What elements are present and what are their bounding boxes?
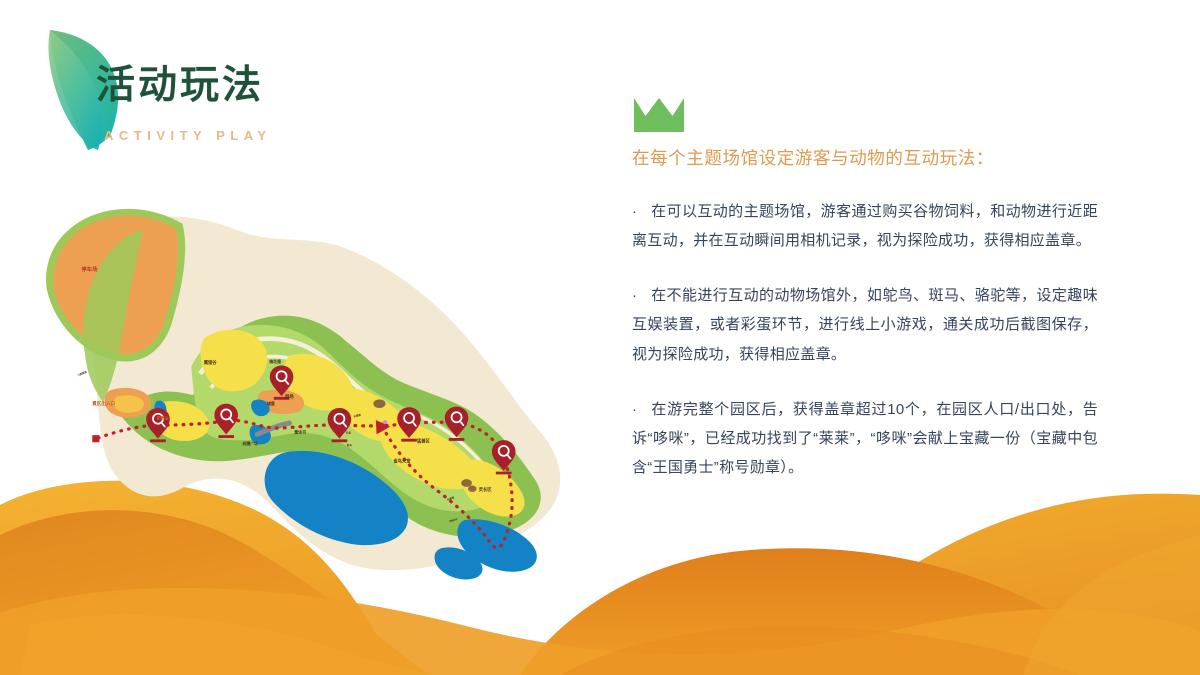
map-label-4: 鹰猎谷	[204, 359, 218, 366]
route-start-marker	[92, 435, 99, 442]
title-block: 活动玩法 ACTIVITY PLAY	[36, 18, 366, 148]
map-label-14: 灵长区	[479, 486, 493, 493]
park-map[interactable]: 停车场入园通道景区出入口彩鹦谷鹰猎谷梅花鹿剧场城堡尚膳广场童话书斑马长颈鹿猛兽区…	[38, 188, 598, 588]
bullet-marker-2: ·	[632, 287, 651, 304]
map-label-9: 童话书	[294, 429, 306, 434]
park-map-svg: 停车场入园通道景区出入口彩鹦谷鹰猎谷梅花鹿剧场城堡尚膳广场童话书斑马长颈鹿猛兽区…	[38, 188, 598, 588]
bullet-text-2: 在不能进行互动的动物场馆外，如鸵鸟、斑马、骆驼等，设定趣味互娱装置，或者彩蛋环节…	[632, 287, 1098, 363]
bullet-text-3: 在游完整个园区后，获得盖章超过10个，在园区人口/出口处，告诉“哆咪”，已经成功…	[632, 401, 1098, 477]
bullet-paragraph-2: ·在不能进行互动的动物场馆外，如鸵鸟、斑马、骆驼等，设定趣味互娱装置，或者彩蛋环…	[632, 281, 1098, 369]
crown-icon	[632, 96, 686, 134]
bullet-marker-1: ·	[632, 203, 651, 220]
content-column: 在每个主题场馆设定游客与动物的互动玩法： ·在可以互动的主题场馆，游客通过购买谷…	[632, 96, 1098, 483]
map-label-6: 剧场	[285, 393, 294, 400]
map-label-2: 景区出入口	[92, 400, 116, 407]
bullet-paragraph-3: ·在游完整个园区后，获得盖章超过10个，在园区人口/出口处，告诉“哆咪”，已经成…	[632, 395, 1098, 483]
map-label-7: 城堡	[267, 401, 275, 406]
map-label-13: 雀鸟天堂	[392, 457, 411, 464]
page-subtitle: ACTIVITY PLAY	[104, 128, 272, 143]
map-label-12: 猛兽区	[416, 437, 431, 444]
map-label-1: 入园通道	[77, 370, 88, 378]
bullet-marker-3: ·	[632, 401, 651, 418]
map-label-8: 尚膳广场	[242, 441, 258, 446]
section-heading: 在每个主题场馆设定游客与动物的互动玩法：	[632, 146, 1098, 171]
bullet-paragraph-1: ·在可以互动的主题场馆，游客通过购买谷物饲料，和动物进行近距离互动，并在互动瞬间…	[632, 197, 1098, 256]
page-title: 活动玩法	[96, 66, 264, 105]
slide-root: 活动玩法 ACTIVITY PLAY	[0, 0, 1200, 675]
bullet-text-1: 在可以互动的主题场馆，游客通过购买谷物饲料，和动物进行近距离互动，并在互动瞬间用…	[632, 203, 1098, 249]
map-label-5: 梅花鹿	[269, 359, 281, 364]
map-label-3: 彩鹦谷	[156, 415, 169, 420]
